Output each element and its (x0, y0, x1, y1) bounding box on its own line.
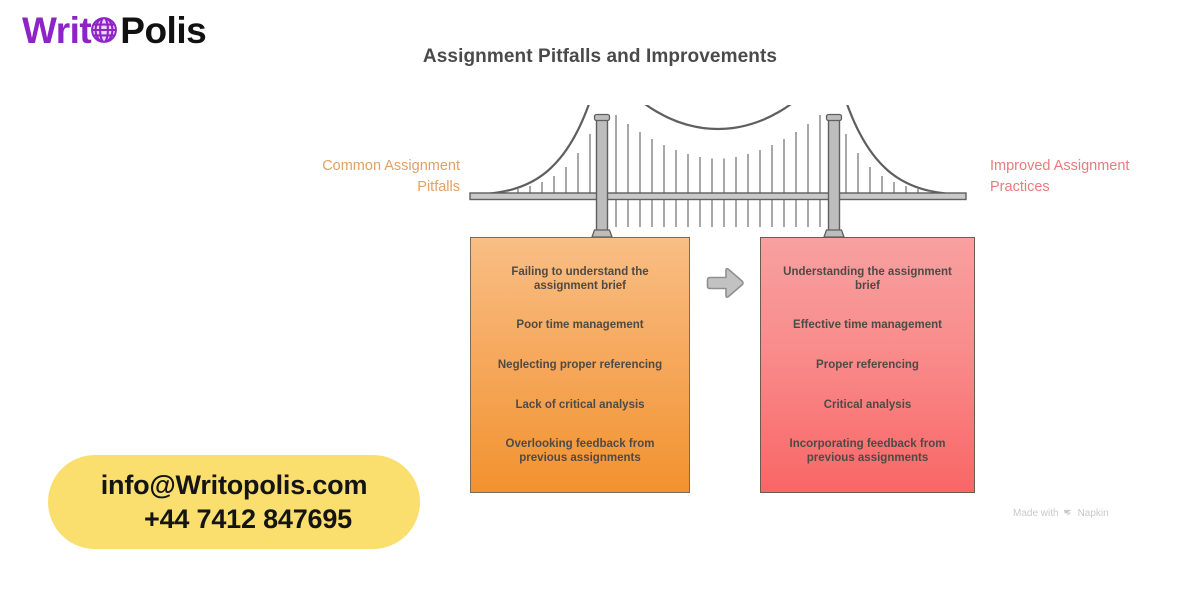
improvement-item: Effective time management (773, 318, 962, 332)
improvements-panel: Understanding the assignment brief Effec… (760, 237, 975, 493)
pitfall-item: Neglecting proper referencing (483, 358, 677, 372)
pitfall-item: Failing to understand the assignment bri… (483, 265, 677, 293)
pitfall-item: Lack of critical analysis (483, 398, 677, 412)
contact-phone[interactable]: +44 7412 847695 (116, 502, 352, 536)
pitfall-item: Overlooking feedback from previous assig… (483, 437, 677, 465)
watermark-prefix-label: Made with (1013, 508, 1059, 519)
right-category-label: Improved Assignment Practices (990, 156, 1160, 198)
globe-icon (89, 15, 119, 45)
contact-badge[interactable]: info@Writopolis.com +44 7412 847695 (48, 455, 420, 549)
left-category-label: Common Assignment Pitfalls (300, 156, 460, 198)
brand-name-secondary: Polis (120, 12, 206, 49)
pitfalls-panel: Failing to understand the assignment bri… (470, 237, 690, 493)
napkin-watermark: Made with Napkin (1013, 508, 1109, 519)
improvement-item: Critical analysis (773, 398, 962, 412)
arrow-right-icon (706, 265, 746, 301)
watermark-brand-label: Napkin (1078, 508, 1109, 519)
suspension-bridge-icon (468, 105, 968, 245)
contact-email[interactable]: info@Writopolis.com (101, 468, 368, 502)
improvement-item: Incorporating feedback from previous ass… (773, 437, 962, 465)
diagram-title: Assignment Pitfalls and Improvements (0, 46, 1200, 68)
improvement-item: Understanding the assignment brief (773, 265, 962, 293)
pitfall-item: Poor time management (483, 318, 677, 332)
napkin-logo-icon (1063, 508, 1074, 519)
brand-name-primary: Writ (22, 12, 91, 49)
improvement-item: Proper referencing (773, 358, 962, 372)
